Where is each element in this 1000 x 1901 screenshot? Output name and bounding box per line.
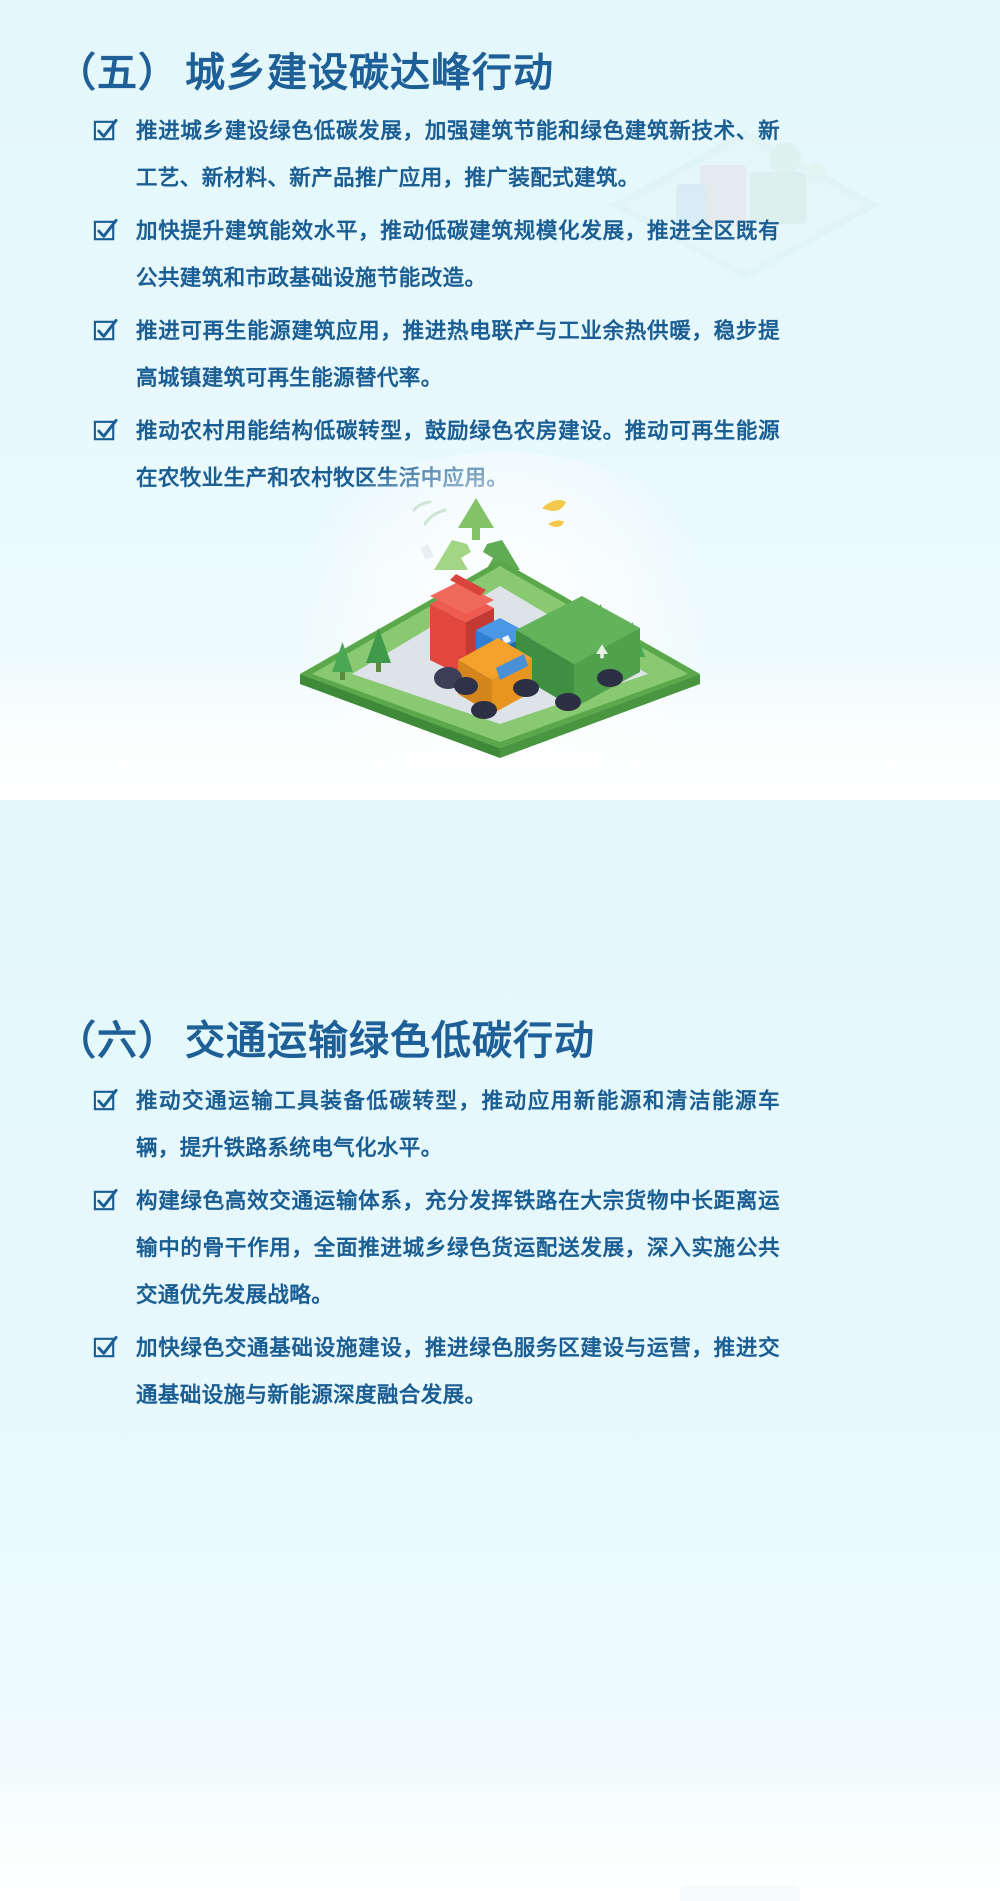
section-title: 交通运输绿色低碳行动 [185,1019,595,1063]
checkbox-checked-icon [92,218,119,245]
checkbox-checked-icon [92,1335,119,1362]
section-urban-rural-construction: （五）城乡建设碳达峰行动 推进城乡建设绿色低碳发展，加强建筑节能和绿色建筑新技术… [0,0,1000,795]
list-item: 推进城乡建设绿色低碳发展，加强建筑节能和绿色建筑新技术、新工艺、新材料、新产品推… [90,108,780,202]
list-item: 构建绿色高效交通运输体系，充分发挥铁路在大宗货物中长距离运输中的骨干作用，全面推… [90,1178,780,1319]
list-item-text: 加快提升建筑能效水平，推动低碳建筑规模化发展，推进全区既有公共建筑和市政基础设施… [136,208,780,302]
section-heading: （五）城乡建设碳达峰行动 [56,40,554,98]
list-item-text: 推动交通运输工具装备低碳转型，推动应用新能源和清洁能源车辆，提升铁路系统电气化水… [136,1078,780,1172]
list-item-text: 推进城乡建设绿色低碳发展，加强建筑节能和绿色建筑新技术、新工艺、新材料、新产品推… [136,108,780,202]
section-title: 城乡建设碳达峰行动 [185,51,554,95]
list-item-text: 构建绿色高效交通运输体系，充分发挥铁路在大宗货物中长距离运输中的骨干作用，全面推… [136,1178,780,1319]
section-number: （六） [56,1019,179,1063]
list-item: 推动交通运输工具装备低碳转型，推动应用新能源和清洁能源车辆，提升铁路系统电气化水… [90,1078,780,1172]
infographic-page: （五）城乡建设碳达峰行动 推进城乡建设绿色低碳发展，加强建筑节能和绿色建筑新技术… [0,0,1000,1901]
recycling-truck-illustration [280,462,720,762]
list-item: 加快提升建筑能效水平，推动低碳建筑规模化发展，推进全区既有公共建筑和市政基础设施… [90,208,780,302]
checkbox-checked-icon [92,418,119,445]
bullet-list: 推进城乡建设绿色低碳发展，加强建筑节能和绿色建筑新技术、新工艺、新材料、新产品推… [90,108,780,508]
list-item: 推进可再生能源建筑应用，推进热电联产与工业余热供暖，稳步提高城镇建筑可再生能源替… [90,308,780,402]
checkbox-checked-icon [92,318,119,345]
checkbox-checked-icon [92,1088,119,1115]
list-item-text: 推进可再生能源建筑应用，推进热电联产与工业余热供暖，稳步提高城镇建筑可再生能源替… [136,308,780,402]
section-heading: （六）交通运输绿色低碳行动 [56,1008,595,1066]
checkbox-checked-icon [92,118,119,145]
section-number: （五） [56,51,179,95]
list-item: 加快绿色交通基础设施建设，推进绿色服务区建设与运营，推进交通基础设施与新能源深度… [90,1325,780,1419]
section-transport-green-low-carbon: （六）交通运输绿色低碳行动 推动交通运输工具装备低碳转型，推动应用新能源和清洁能… [0,800,1000,1901]
list-item-text: 加快绿色交通基础设施建设，推进绿色服务区建设与运营，推进交通基础设施与新能源深度… [136,1325,780,1419]
checkbox-checked-icon [92,1188,119,1215]
bullet-list: 推动交通运输工具装备低碳转型，推动应用新能源和清洁能源车辆，提升铁路系统电气化水… [90,1078,780,1425]
